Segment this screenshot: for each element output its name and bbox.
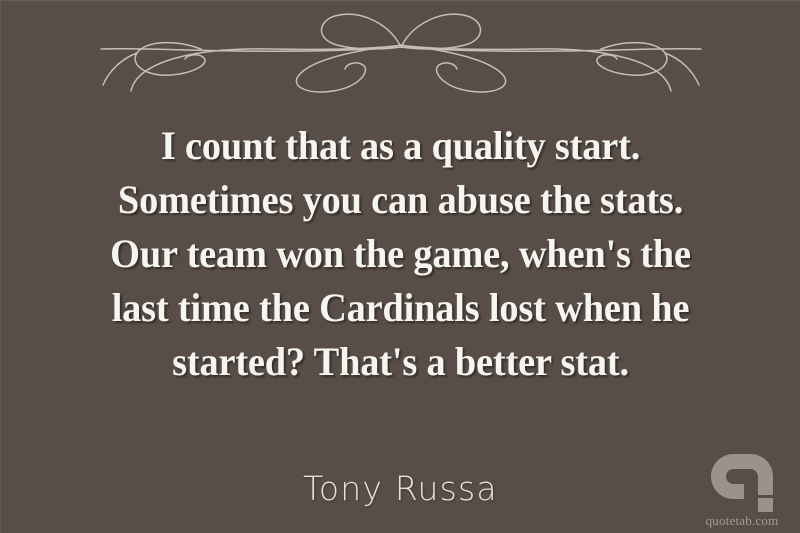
flourish-divider-icon xyxy=(71,5,731,101)
quote-line: Our team won the game, when's the xyxy=(59,227,742,281)
quotetab-q-logo-icon xyxy=(711,454,773,512)
quote-author: Tony Russa xyxy=(1,467,800,511)
quote-line: Sometimes you can abuse the stats. xyxy=(59,173,742,227)
quote-line: I count that as a quality start. xyxy=(59,119,742,173)
watermark-site-label: quotetab.com xyxy=(690,513,794,529)
watermark[interactable]: quotetab.com xyxy=(690,454,794,529)
quote-text: I count that as a quality start. Sometim… xyxy=(1,119,800,389)
quote-card: I count that as a quality start. Sometim… xyxy=(0,0,800,533)
quote-line: last time the Cardinals lost when he xyxy=(59,281,742,335)
quote-line: started? That's a better stat. xyxy=(59,335,742,389)
